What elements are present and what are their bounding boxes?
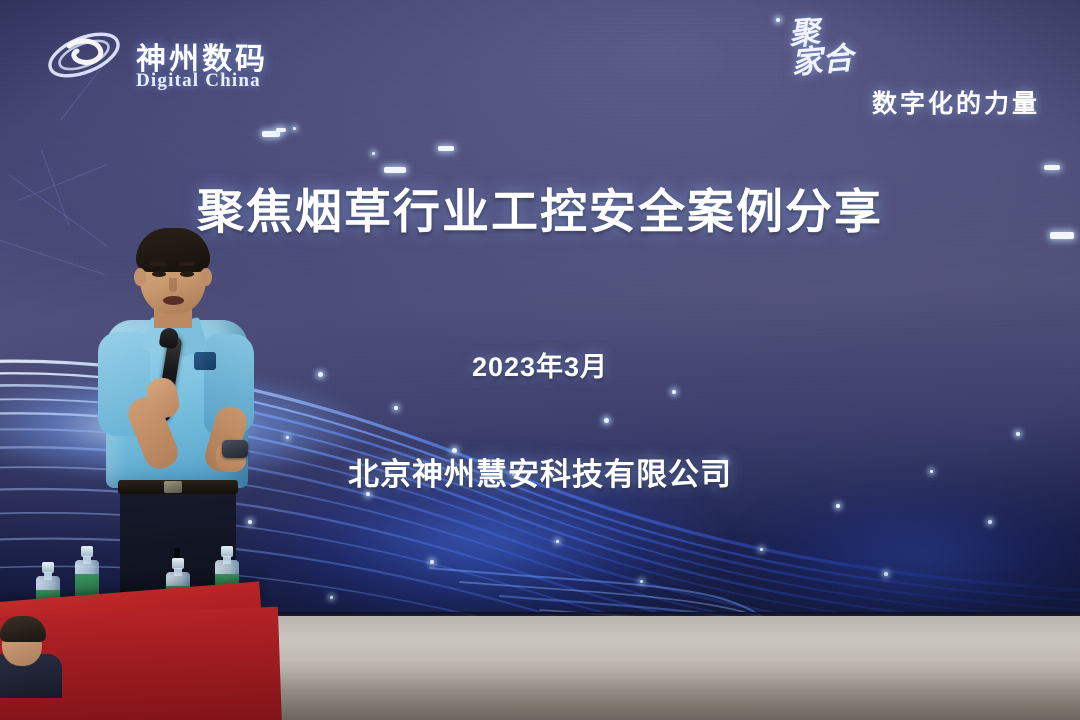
speaker-eyebrow-left bbox=[150, 262, 167, 266]
calligraphy-line-2: 家合 bbox=[790, 43, 854, 77]
speaker-nose bbox=[169, 278, 177, 292]
digital-china-swirl-logo-icon bbox=[44, 24, 124, 86]
attendee-hair bbox=[0, 616, 46, 642]
bottle-label bbox=[75, 574, 99, 596]
brand-logo-juhe: 聚 家合 数字化的力量 bbox=[783, 14, 1058, 114]
speaker-shirt-logo bbox=[194, 352, 216, 370]
speaker-ear-right bbox=[200, 268, 212, 286]
brand-name-en: Digital China bbox=[136, 70, 261, 92]
speaker-belt-buckle bbox=[164, 481, 182, 493]
speaker-hair bbox=[136, 228, 210, 272]
speaker-eye-right bbox=[180, 271, 194, 277]
calligraphy-juhe: 聚 家合 bbox=[788, 8, 923, 81]
screenshot-root: 神州数码 Digital China 聚 家合 数字化的力量 聚焦烟草行业工控安… bbox=[0, 0, 1080, 720]
speaker-eyebrow-right bbox=[178, 262, 195, 266]
brand-tagline: 数字化的力量 bbox=[872, 84, 1040, 120]
presentation-clicker bbox=[222, 440, 248, 458]
speaker-mouth bbox=[163, 296, 184, 305]
speaker-ear-left bbox=[134, 268, 146, 286]
brand-logo-digital-china: 神州数码 Digital China bbox=[44, 18, 314, 96]
speaker-eye-left bbox=[152, 271, 166, 277]
